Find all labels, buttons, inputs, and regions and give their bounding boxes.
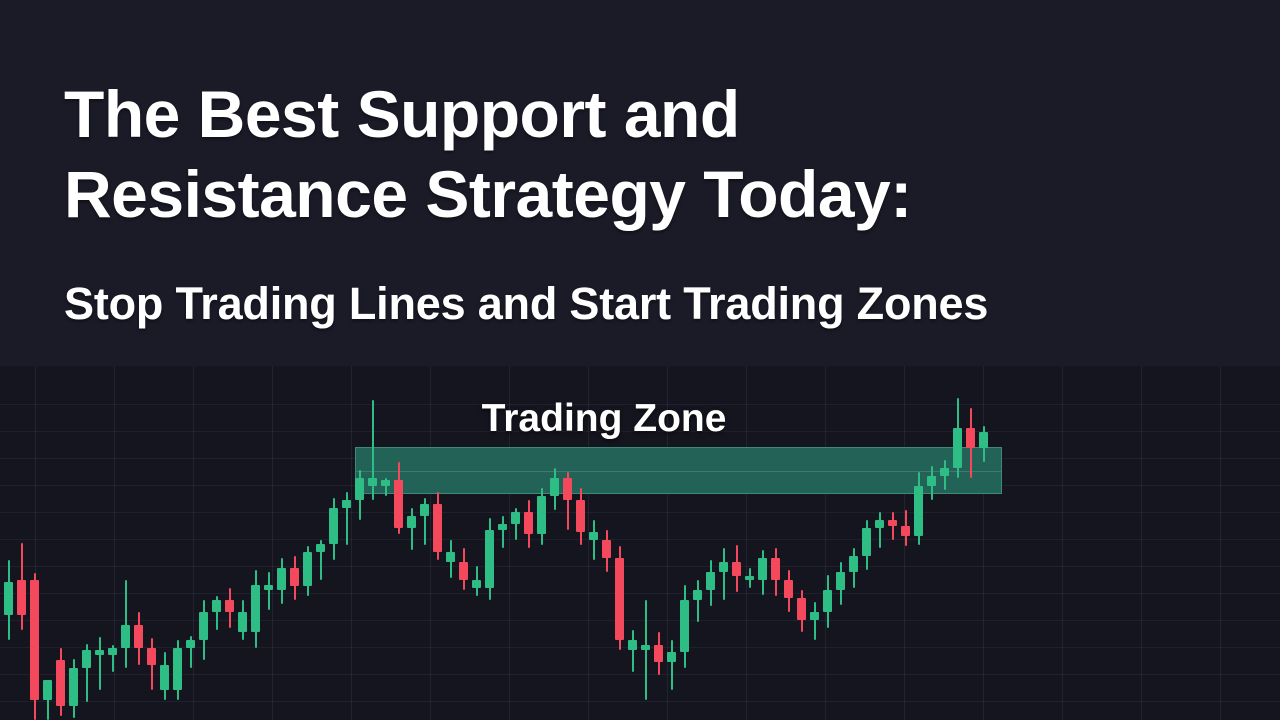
candle-body [914, 486, 923, 536]
candle-body [56, 660, 65, 706]
candle-body [693, 590, 702, 600]
candle-body [199, 612, 208, 640]
candle-body [641, 645, 650, 650]
candle-body [836, 572, 845, 590]
candle-body [303, 552, 312, 586]
candle-body [329, 508, 338, 544]
candle-body [784, 580, 793, 598]
slide-canvas: The Best Support and Resistance Strategy… [0, 0, 1280, 720]
candle-body [667, 652, 676, 662]
candle-body [615, 558, 624, 640]
candle-body [511, 512, 520, 524]
candle-body [680, 600, 689, 652]
candle-wick [502, 516, 504, 548]
candle-wick [892, 512, 894, 540]
candle-wick [697, 580, 699, 622]
candle-body [316, 544, 325, 552]
page-subtitle: Stop Trading Lines and Start Trading Zon… [64, 272, 1244, 336]
candle-body [823, 590, 832, 612]
candle-body [368, 478, 377, 486]
candle-wick [593, 520, 595, 560]
candle-wick [879, 512, 881, 548]
candle-body [732, 562, 741, 576]
candle-body [628, 640, 637, 650]
candle-body [810, 612, 819, 620]
candle-body [134, 625, 143, 648]
candle-body [342, 500, 351, 508]
candle-body [251, 585, 260, 632]
candle-body [563, 478, 572, 500]
candle-body [758, 558, 767, 580]
candle-body [186, 640, 195, 648]
candle-body [524, 512, 533, 534]
candle-body [355, 478, 364, 500]
candle-body [719, 562, 728, 572]
candle-body [589, 532, 598, 540]
candle-body [277, 568, 286, 590]
candle-body [225, 600, 234, 612]
candle-body [30, 580, 39, 700]
candle-body [459, 562, 468, 580]
candle-body [862, 528, 871, 556]
candle-body [420, 504, 429, 516]
candle-body [69, 668, 78, 706]
candle-body [82, 650, 91, 668]
candle-body [290, 568, 299, 586]
candle-body [550, 478, 559, 496]
candle-body [498, 524, 507, 530]
candle-body [4, 582, 13, 615]
candle-wick [632, 630, 634, 672]
candle-body [160, 665, 169, 690]
candle-body [576, 500, 585, 532]
candle-body [264, 585, 273, 590]
candle-body [537, 496, 546, 534]
candle-wick [645, 600, 647, 700]
candle-body [927, 476, 936, 486]
candle-wick [268, 572, 270, 610]
candle-body [121, 625, 130, 648]
candle-body [212, 600, 221, 612]
candle-wick [125, 580, 127, 668]
candle-body [901, 526, 910, 536]
candle-body [745, 576, 754, 580]
candle-body [875, 520, 884, 528]
candle-body [446, 552, 455, 562]
candle-body [407, 516, 416, 528]
trading-zone-label: Trading Zone [0, 395, 1244, 443]
candle-body [43, 680, 52, 700]
candle-body [602, 540, 611, 558]
candle-wick [671, 640, 673, 690]
candle-body [147, 648, 156, 665]
candle-body [394, 480, 403, 528]
page-title: The Best Support and Resistance Strategy… [64, 74, 1244, 234]
candle-body [706, 572, 715, 590]
candle-body [940, 468, 949, 476]
candle-wick [411, 508, 413, 550]
candle-body [849, 556, 858, 572]
candle-wick [99, 637, 101, 690]
candle-body [95, 650, 104, 655]
candle-body [654, 645, 663, 662]
candle-body [433, 504, 442, 552]
candle-body [173, 648, 182, 690]
candle-body [17, 580, 26, 615]
candle-body [888, 520, 897, 526]
candle-body [771, 558, 780, 580]
candle-body [381, 480, 390, 486]
candle-body [238, 612, 247, 632]
candle-body [485, 530, 494, 588]
candle-wick [723, 548, 725, 600]
candle-body [472, 580, 481, 588]
candle-wick [814, 602, 816, 640]
candle-body [108, 648, 117, 655]
candle-body [797, 598, 806, 620]
